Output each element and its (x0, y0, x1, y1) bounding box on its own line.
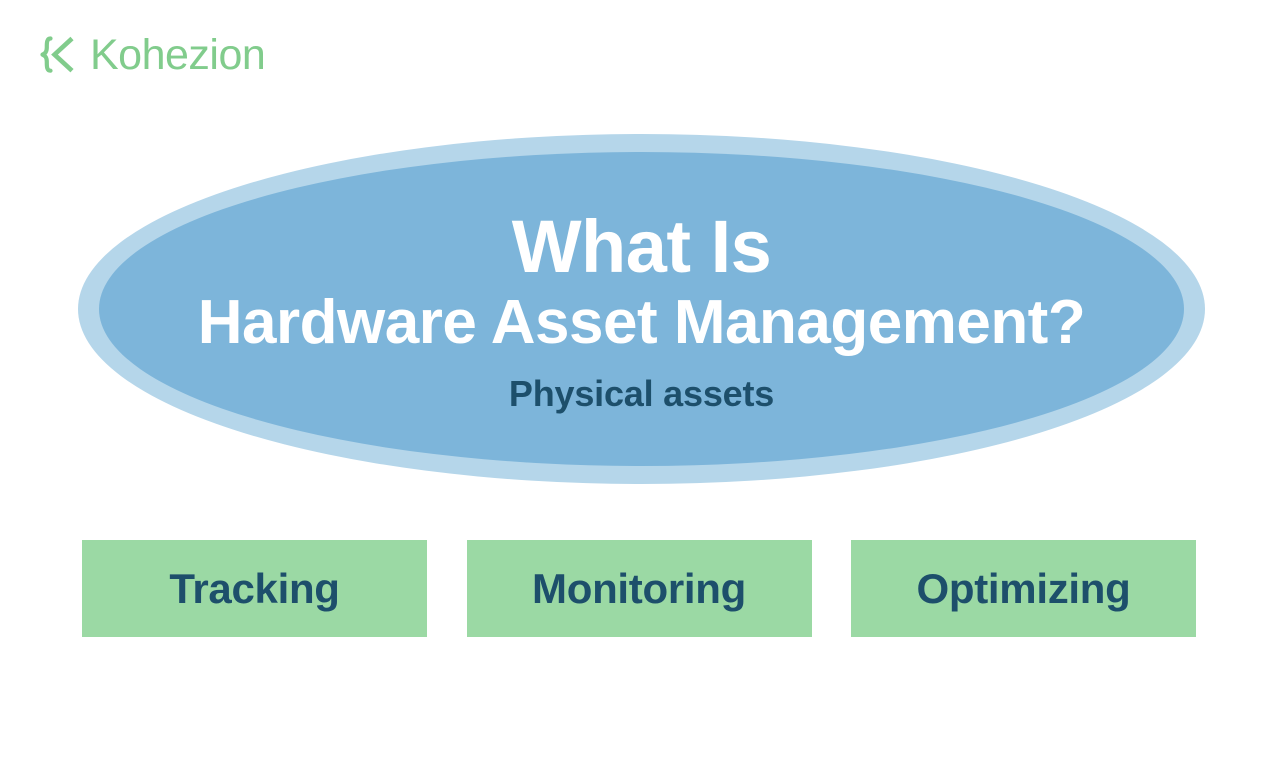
pillar-box-tracking[interactable]: Tracking (82, 540, 427, 637)
pillar-box-optimizing[interactable]: Optimizing (851, 540, 1196, 637)
hero-text-block: What Is Hardware Asset Management? Physi… (78, 134, 1205, 484)
pillar-label: Optimizing (917, 568, 1131, 610)
headline-line-2: Hardware Asset Management? (198, 288, 1085, 357)
pillar-label: Monitoring (532, 568, 746, 610)
pillar-box-monitoring[interactable]: Monitoring (467, 540, 812, 637)
brace-chevron-logo-icon (34, 32, 80, 78)
headline-line-1: What Is (512, 210, 772, 284)
brand-logo[interactable]: Kohezion (34, 26, 265, 84)
hero-subheadline: Physical assets (509, 374, 774, 414)
pillar-row: Tracking Monitoring Optimizing (82, 540, 1196, 637)
brand-name: Kohezion (90, 34, 265, 77)
hero-ellipse: What Is Hardware Asset Management? Physi… (78, 134, 1205, 484)
pillar-label: Tracking (169, 568, 339, 610)
